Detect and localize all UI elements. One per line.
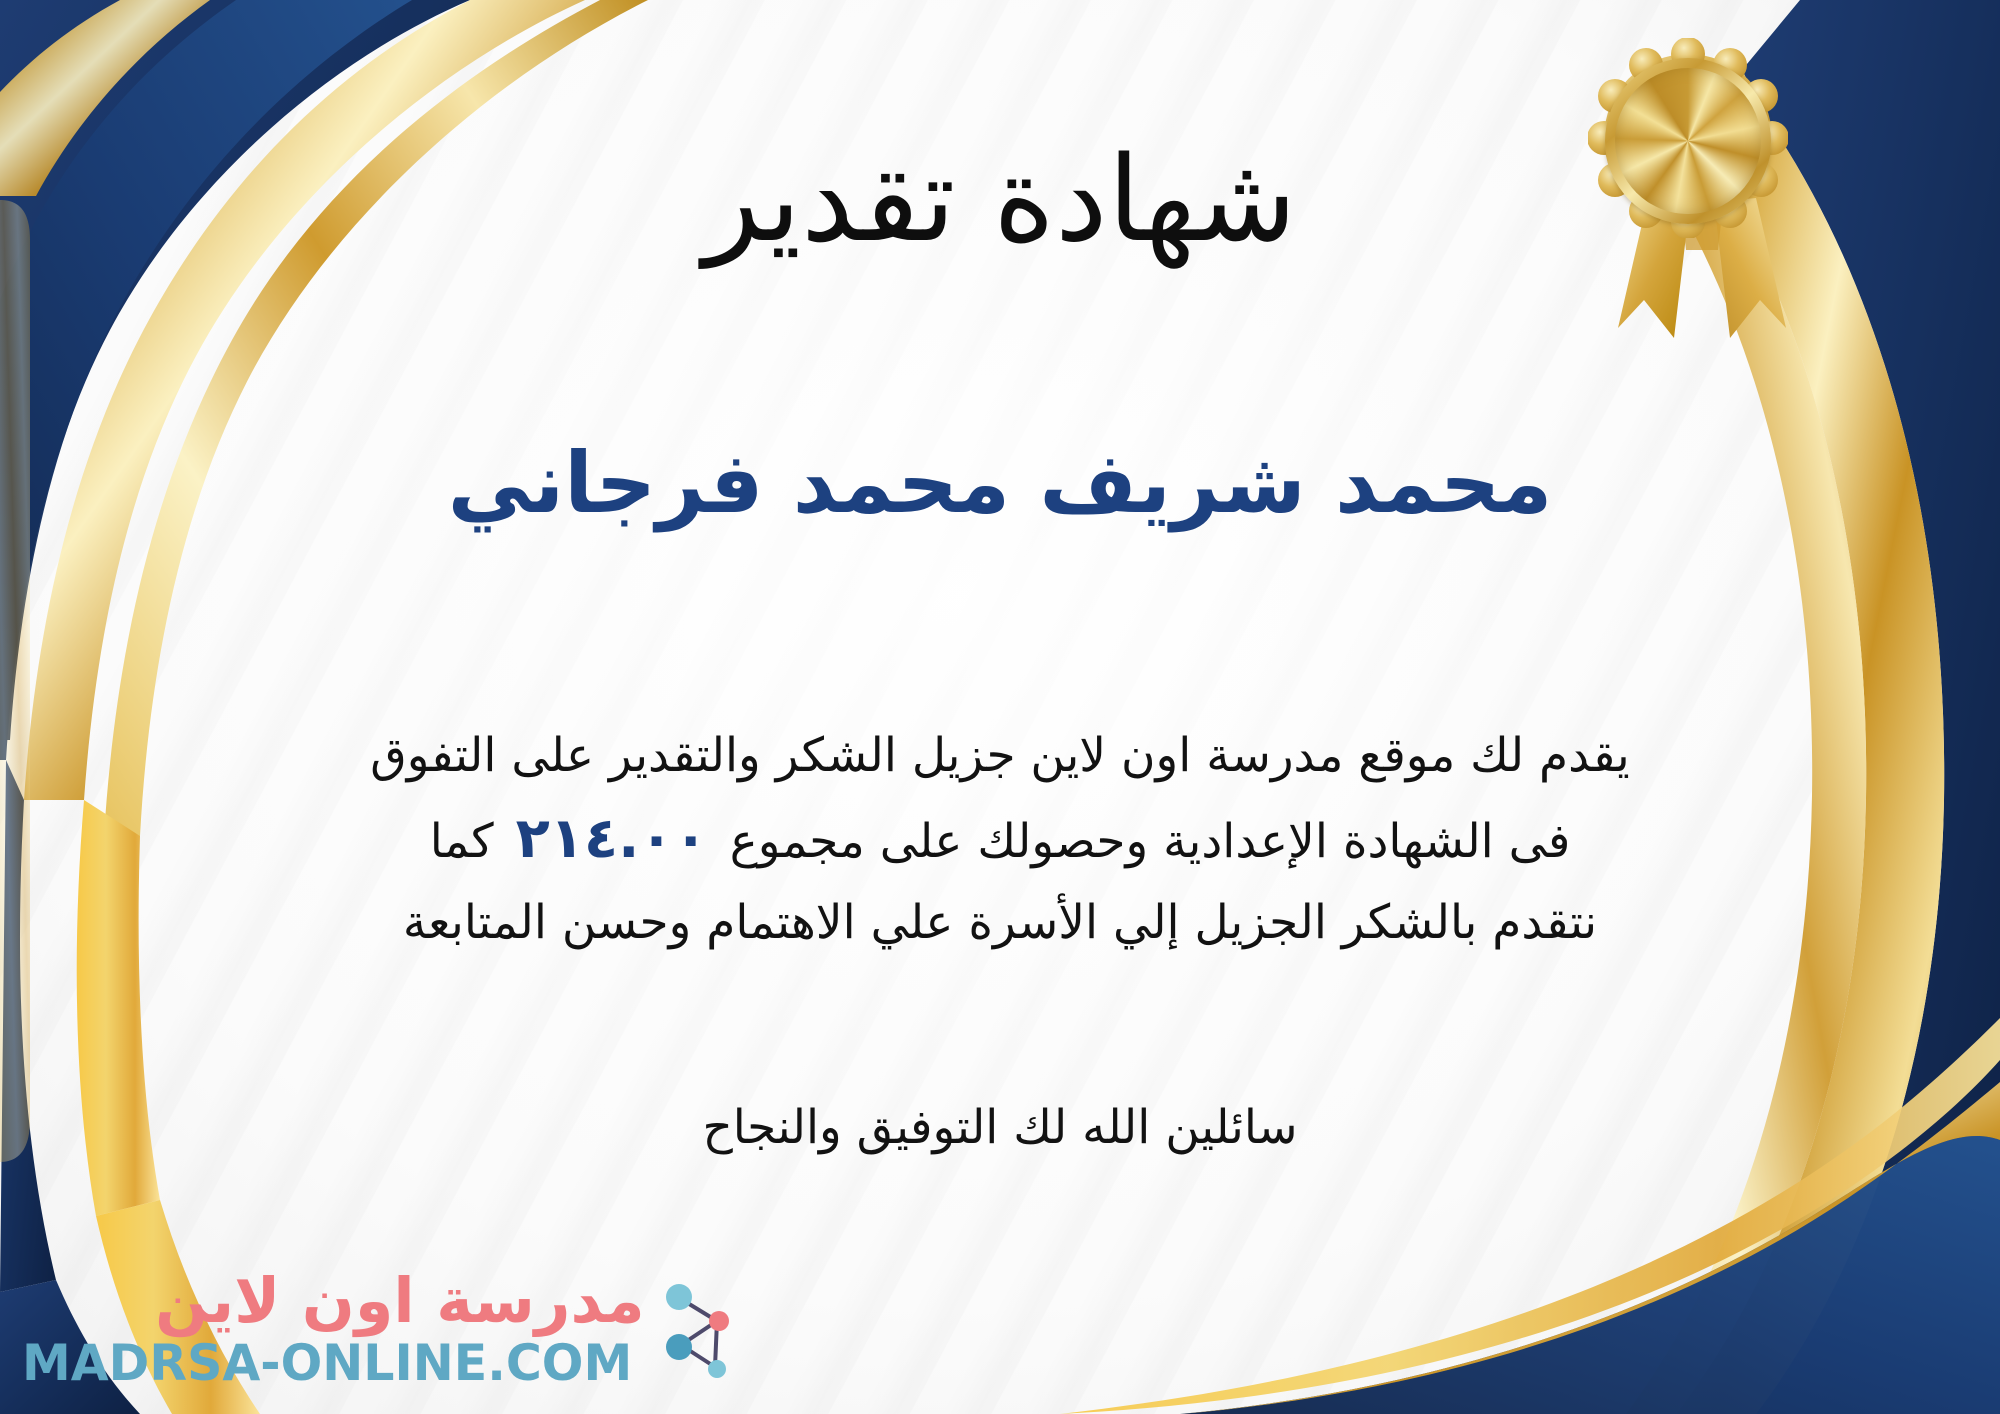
logo-text-group: مدرسة اون لاين MADRSA-ONLINE.COM bbox=[22, 1270, 645, 1388]
logo-website: MADRSA-ONLINE.COM bbox=[22, 1338, 632, 1388]
network-nodes-icon bbox=[655, 1273, 747, 1385]
medal-metallic-center bbox=[1615, 68, 1761, 214]
body-line-2-suffix: كما bbox=[430, 814, 494, 869]
gold-medal-seal-icon bbox=[1588, 38, 1818, 348]
body-text: يقدم لك موقع مدرسة اون لاين جزيل الشكر و… bbox=[0, 718, 2000, 961]
recipient-name: محمد شريف محمد فرجاني bbox=[0, 430, 2000, 538]
score-value: ٢١٤.٠٠ bbox=[494, 806, 730, 871]
body-line-2-prefix: فى الشهادة الإعدادية وحصولك على مجموع bbox=[730, 814, 1571, 869]
closing-line: سائلين الله لك التوفيق والنجاح bbox=[0, 1100, 2000, 1155]
body-line-3: نتقدم بالشكر الجزيل إلي الأسرة علي الاهت… bbox=[44, 885, 1956, 961]
logo-arabic-name: مدرسة اون لاين bbox=[155, 1270, 645, 1332]
certificate-page: شهادة تقدير محمد شريف محمد فرجاني يقدم ل… bbox=[0, 0, 2000, 1414]
site-logo[interactable]: مدرسة اون لاين MADRSA-ONLINE.COM bbox=[22, 1270, 747, 1388]
body-line-2: فى الشهادة الإعدادية وحصولك على مجموع٢١٤… bbox=[44, 794, 1956, 885]
body-line-1: يقدم لك موقع مدرسة اون لاين جزيل الشكر و… bbox=[44, 718, 1956, 794]
